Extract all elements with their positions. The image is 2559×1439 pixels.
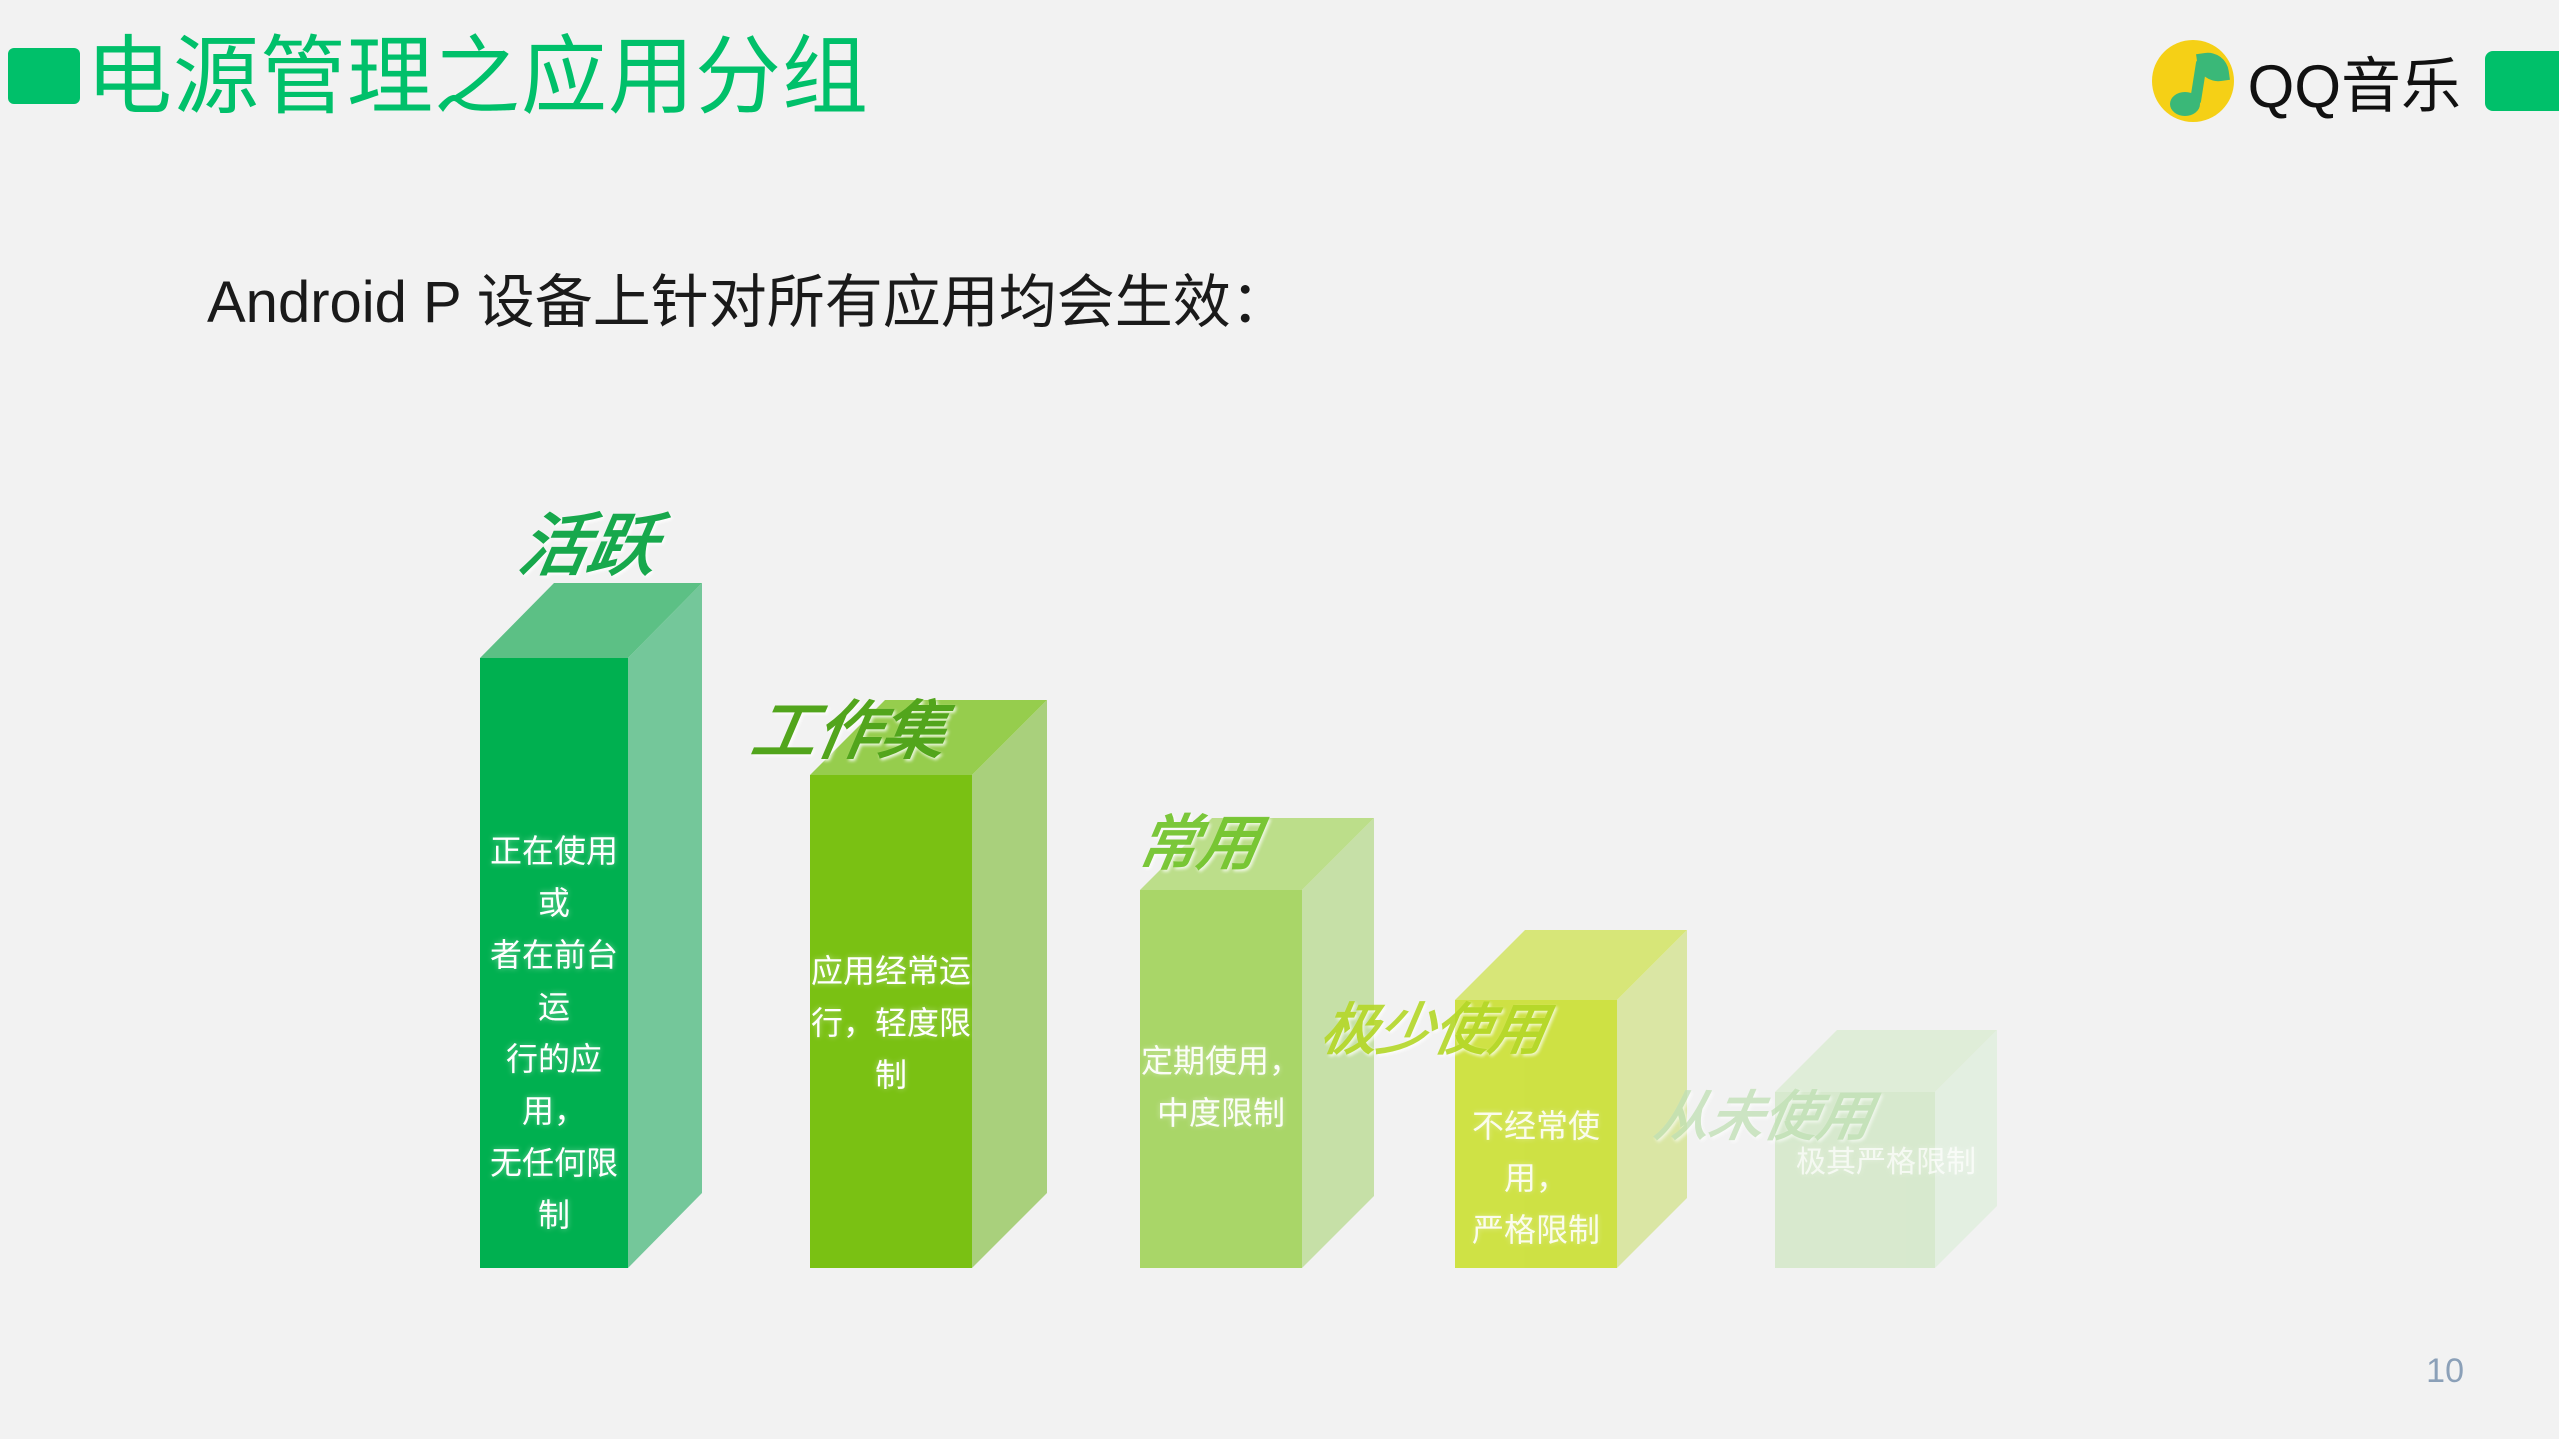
bar-description-1: 正在使用或者在前台运行的应用，无任何限制 [480, 825, 628, 1241]
bar-side-face [628, 583, 702, 1268]
bar-label-1: 活跃 [513, 490, 666, 589]
bar-description-line: 极其严格限制 [1775, 1140, 1997, 1186]
app-standby-buckets-chart: 活跃正在使用或者在前台运行的应用，无任何限制工作集应用经常运行，轻度限制常用定期… [0, 0, 2559, 1439]
bar-label-3: 常用 [1132, 795, 1267, 882]
bar-description-line: 无任何限制 [480, 1137, 628, 1241]
bar-description-line: 行，轻度限 [810, 997, 972, 1049]
bar-label-4: 极少使用 [1316, 985, 1554, 1066]
bar-description-line: 行的应用， [480, 1033, 628, 1137]
bar-description-3: 定期使用，中度限制 [1140, 1035, 1302, 1139]
bar-description-line: 严格限制 [1455, 1204, 1617, 1256]
bar-description-line: 应用经常运 [810, 945, 972, 997]
bar-description-5: 极其严格限制 [1775, 1140, 1997, 1186]
bar-description-line: 中度限制 [1140, 1087, 1302, 1139]
bar-description-4: 不经常使用，严格限制 [1455, 1100, 1617, 1256]
bar-description-line: 定期使用， [1140, 1035, 1302, 1087]
bar-description-line: 制 [810, 1049, 972, 1101]
bar-description-line: 正在使用或 [480, 825, 628, 929]
bar-description-line: 不经常使用， [1455, 1100, 1617, 1204]
bar-description-line: 者在前台运 [480, 929, 628, 1033]
bar-description-2: 应用经常运行，轻度限制 [810, 945, 972, 1101]
bar-label-2: 工作集 [746, 680, 954, 772]
bar-side-face [972, 700, 1047, 1268]
page-number: 10 [2426, 1352, 2464, 1391]
